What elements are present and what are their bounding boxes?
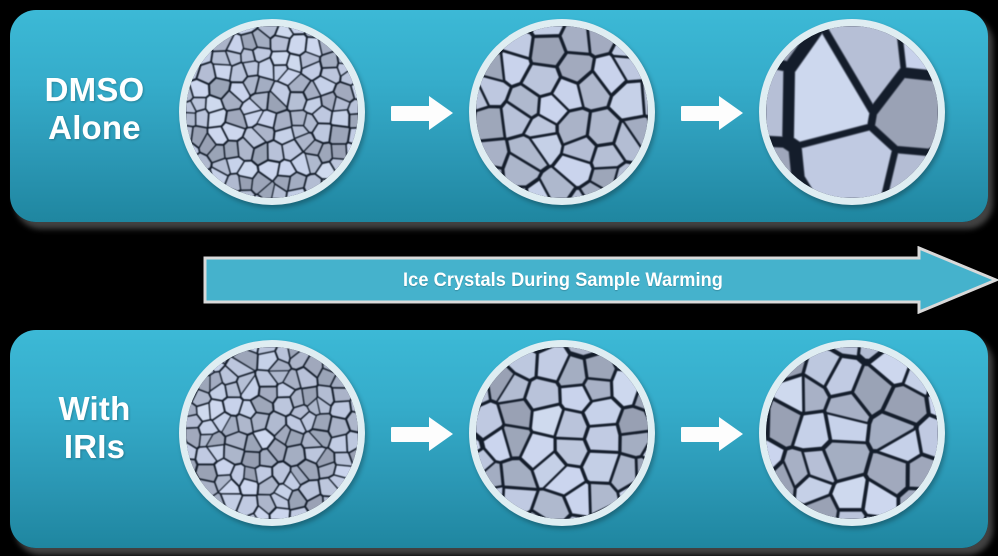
row-label-line1: DMSO bbox=[22, 71, 167, 109]
step-arrow-icon bbox=[681, 417, 743, 451]
micrograph-iri-stage-initial bbox=[179, 340, 365, 526]
micrograph-disc bbox=[476, 26, 648, 198]
row-label-with-iris: With IRIs bbox=[22, 390, 167, 466]
row-label-line2: IRIs bbox=[22, 428, 167, 466]
row-label-line2: Alone bbox=[22, 109, 167, 147]
micrograph-disc bbox=[766, 347, 938, 519]
micrograph-disc bbox=[766, 26, 938, 198]
row-label-line1: With bbox=[22, 390, 167, 428]
micrograph-iri-stage-intermediate bbox=[469, 340, 655, 526]
banner-label: Ice Crystals During Sample Warming bbox=[228, 246, 898, 314]
step-arrow-icon bbox=[391, 96, 453, 130]
step-arrow-icon bbox=[681, 96, 743, 130]
micrograph-iri-stage-final bbox=[759, 340, 945, 526]
row-label-dmso-alone: DMSO Alone bbox=[22, 71, 167, 147]
banner-ice-crystals-during-sample-warming: Ice Crystals During Sample Warming bbox=[203, 246, 998, 314]
micrograph-dmso-stage-final bbox=[759, 19, 945, 205]
step-arrow-icon bbox=[391, 417, 453, 451]
micrograph-disc bbox=[186, 26, 358, 198]
figure-canvas: DMSO Alone Ice Crystals During Sample Wa… bbox=[0, 0, 998, 556]
micrograph-dmso-stage-initial bbox=[179, 19, 365, 205]
micrograph-dmso-stage-intermediate bbox=[469, 19, 655, 205]
micrograph-disc bbox=[476, 347, 648, 519]
micrograph-disc bbox=[186, 347, 358, 519]
